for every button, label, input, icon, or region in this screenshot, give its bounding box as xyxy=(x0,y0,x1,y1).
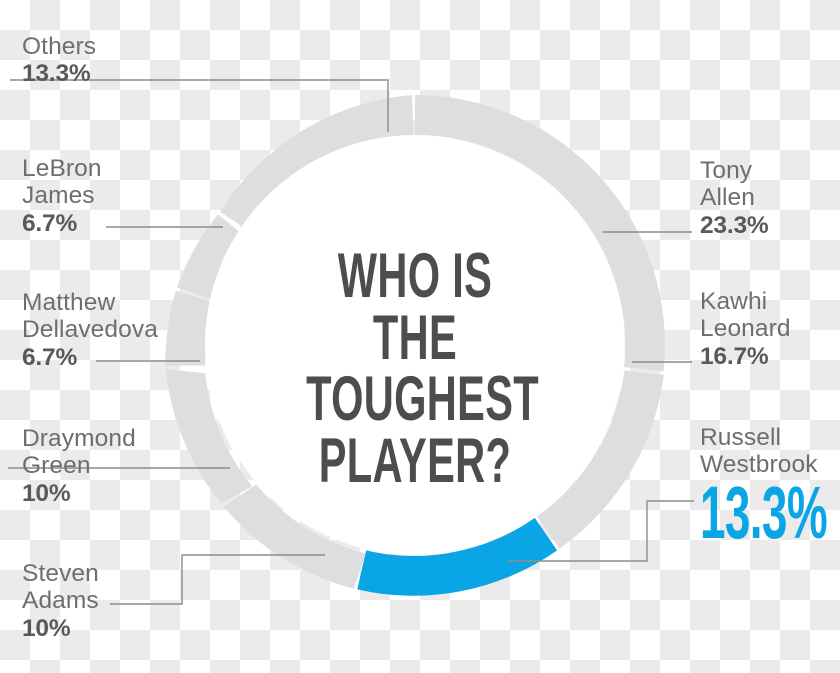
callout-tony-allen-name-line-2: Allen xyxy=(700,184,768,211)
callout-steven-adams[interactable]: Steven Adams 10% xyxy=(22,560,99,642)
callout-russell-westbrook[interactable]: Russell Westbrook 13.3% xyxy=(700,424,840,544)
callout-kawhi-leonard-name-line-1: Kawhi xyxy=(700,288,791,315)
callout-kawhi-leonard-percent: 16.7% xyxy=(700,343,791,370)
callout-lebron-james-name-line-1: LeBron xyxy=(22,155,102,182)
callout-others-name: Others xyxy=(22,33,96,60)
callout-others-percent: 13.3% xyxy=(22,60,96,87)
callout-draymond-green-name-line-2: Green xyxy=(22,452,136,479)
callout-draymond-green-percent: 10% xyxy=(22,480,136,507)
page-title: WHO IS THE TOUGHEST PLAYER? xyxy=(306,246,524,493)
callout-matthew-dellavedova-name-line-1: Matthew xyxy=(22,289,158,316)
callout-lebron-james-name-line-2: James xyxy=(22,182,102,209)
callout-tony-allen-name-line-1: Tony xyxy=(700,157,768,184)
callout-matthew-dellavedova[interactable]: Matthew Dellavedova 6.7% xyxy=(22,289,158,371)
page-title-line-1: WHO IS THE xyxy=(306,246,524,369)
callout-kawhi-leonard[interactable]: Kawhi Leonard 16.7% xyxy=(700,288,791,370)
callout-lebron-james-percent: 6.7% xyxy=(22,210,102,237)
callout-draymond-green-name-line-1: Draymond xyxy=(22,425,136,452)
callout-matthew-dellavedova-percent: 6.7% xyxy=(22,344,158,371)
callout-lebron-james[interactable]: LeBron James 6.7% xyxy=(22,155,102,237)
callout-kawhi-leonard-name-line-2: Leonard xyxy=(700,315,791,342)
page-title-line-3: PLAYER? xyxy=(306,431,524,493)
page-title-line-2: TOUGHEST xyxy=(306,369,524,431)
callout-steven-adams-name-line-2: Adams xyxy=(22,587,99,614)
callout-steven-adams-percent: 10% xyxy=(22,615,99,642)
callout-russell-westbrook-name-line-1: Russell xyxy=(700,424,840,451)
infographic-canvas: WHO IS THE TOUGHEST PLAYER? Others 13.3%… xyxy=(0,0,840,673)
callout-matthew-dellavedova-name-line-2: Dellavedova xyxy=(22,316,158,343)
callout-draymond-green[interactable]: Draymond Green 10% xyxy=(22,425,136,507)
callout-russell-westbrook-percent: 13.3% xyxy=(700,483,827,544)
callout-steven-adams-name-line-1: Steven xyxy=(22,560,99,587)
callout-tony-allen[interactable]: Tony Allen 23.3% xyxy=(700,157,768,239)
callout-others[interactable]: Others 13.3% xyxy=(22,33,96,88)
callout-tony-allen-percent: 23.3% xyxy=(700,212,768,239)
